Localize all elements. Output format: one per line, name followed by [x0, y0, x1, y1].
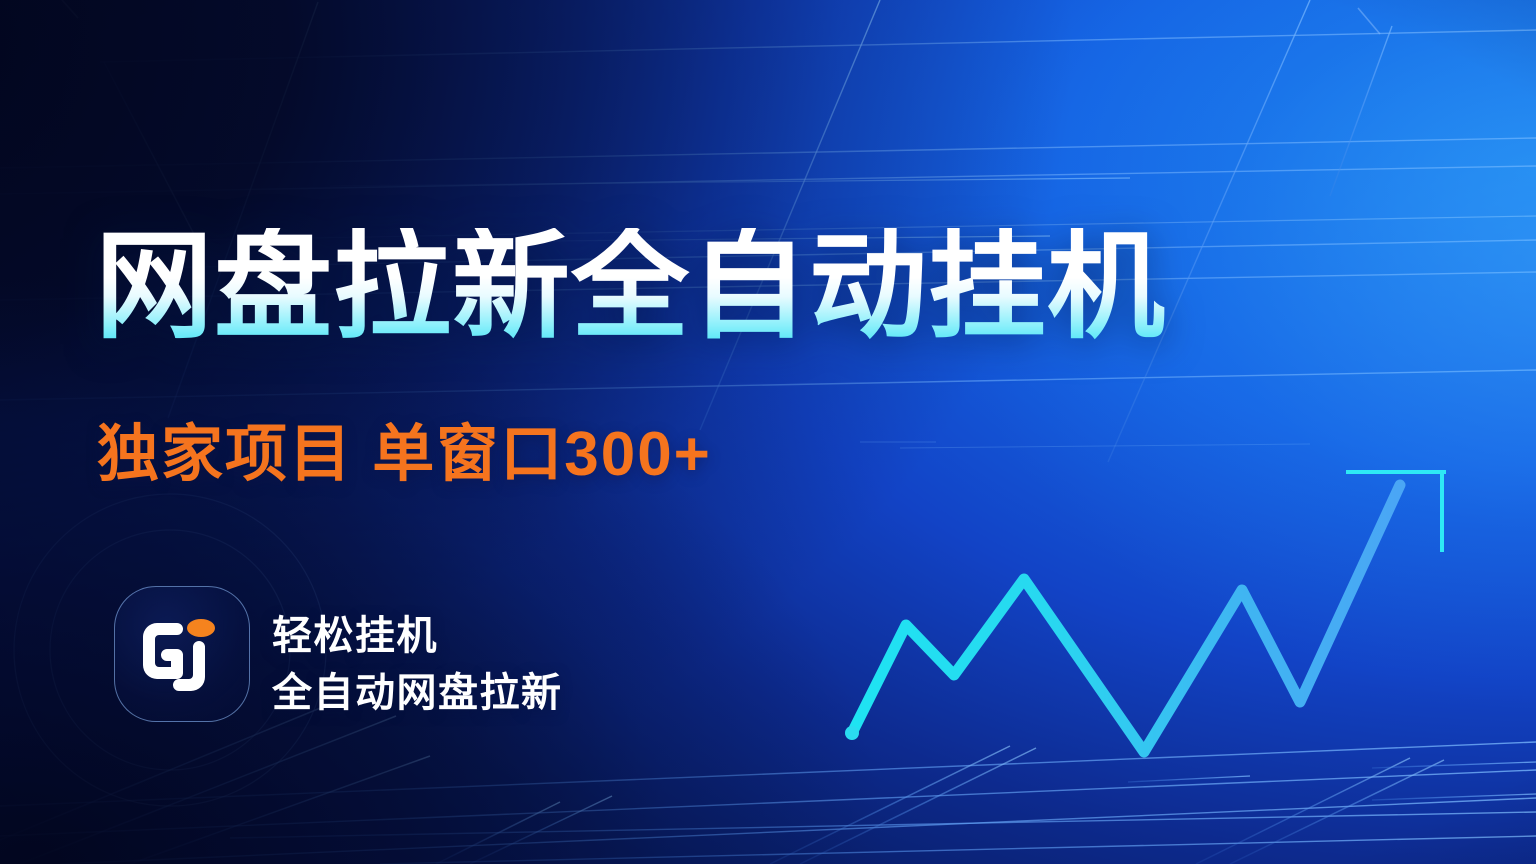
subheadline-offer: 独家项目 单窗口300+ [97, 424, 712, 486]
chart-start-point [845, 726, 859, 740]
chart-line-path [852, 485, 1400, 752]
headline-title: 网盘拉新全自动挂机 [95, 228, 1166, 346]
tagline-block: 轻松挂机 全自动网盘拉新 [272, 608, 563, 722]
promo-banner: 网盘拉新全自动挂机 独家项目 单窗口300+ 轻松挂机 全自动网盘拉新 [0, 0, 1536, 864]
growth-chart-svg [840, 440, 1480, 770]
banner-content: 网盘拉新全自动挂机 独家项目 单窗口300+ 轻松挂机 全自动网盘拉新 [0, 0, 1536, 864]
growth-chart [840, 440, 1480, 770]
logo-badge [114, 586, 250, 722]
brand-logo-icon [115, 587, 251, 723]
tagline-line-2: 全自动网盘拉新 [272, 665, 563, 722]
tagline-line-1: 轻松挂机 [272, 608, 563, 665]
